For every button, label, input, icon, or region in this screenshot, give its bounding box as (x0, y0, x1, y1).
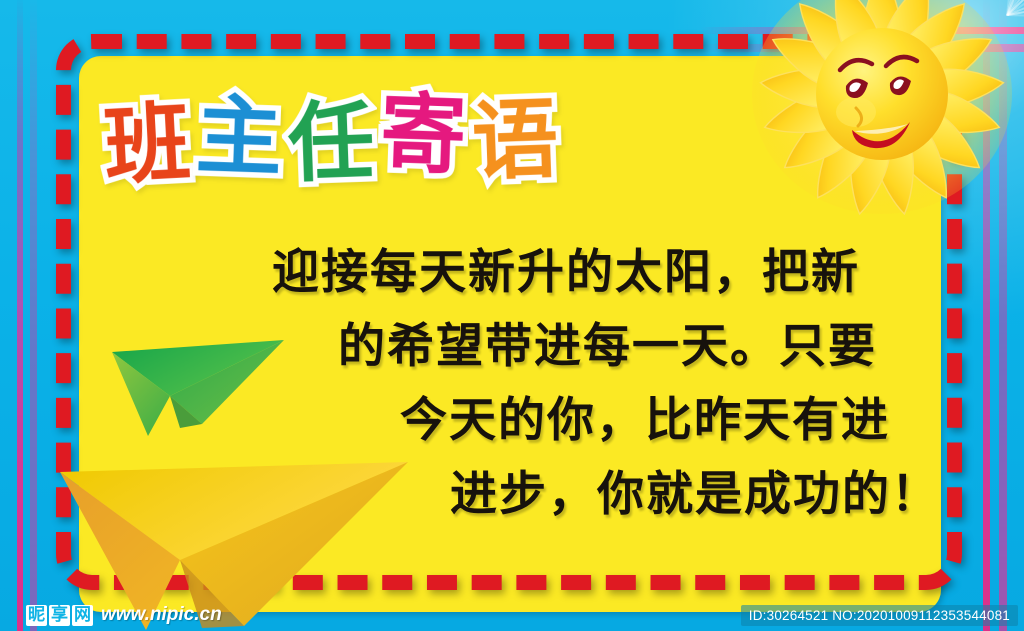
logo-char-2: 网 (72, 605, 93, 626)
message-line: 迎接每天新升的太阳，把新 (250, 236, 890, 310)
page-title: 班 主 任 寄 语 (104, 96, 558, 182)
title-char-2: 任 (287, 99, 376, 188)
logo-char-0: 昵 (26, 605, 47, 626)
message-line: 今天的你，比昨天有进 (250, 384, 890, 458)
title-char-1: 主 (195, 93, 284, 182)
title-char-4: 语 (471, 97, 560, 186)
left-stripe-blue (30, 0, 37, 631)
left-stripe-magenta (17, 0, 23, 631)
asset-id-label: ID:30264521 NO:20201009112353544081 (741, 605, 1018, 626)
paper-airplane-green-icon (110, 336, 290, 441)
message-line: 的希望带进每一天。只要 (250, 310, 890, 384)
paper-airplane-yellow-icon (60, 450, 410, 630)
smiling-sun-icon (778, 0, 1018, 205)
title-char-3: 寄 (379, 91, 468, 180)
title-char-0: 班 (102, 100, 192, 190)
nipic-logo: 昵 享 网 (26, 605, 93, 626)
site-url: www.nipic.cn (101, 604, 222, 626)
logo-char-1: 享 (49, 605, 70, 626)
site-watermark: 昵 享 网 www.nipic.cn (26, 604, 222, 626)
poster-canvas: 班 主 任 寄 语 迎接每天新升的太阳，把新 的希望带进每一天。只要 今天的你，… (0, 0, 1024, 631)
